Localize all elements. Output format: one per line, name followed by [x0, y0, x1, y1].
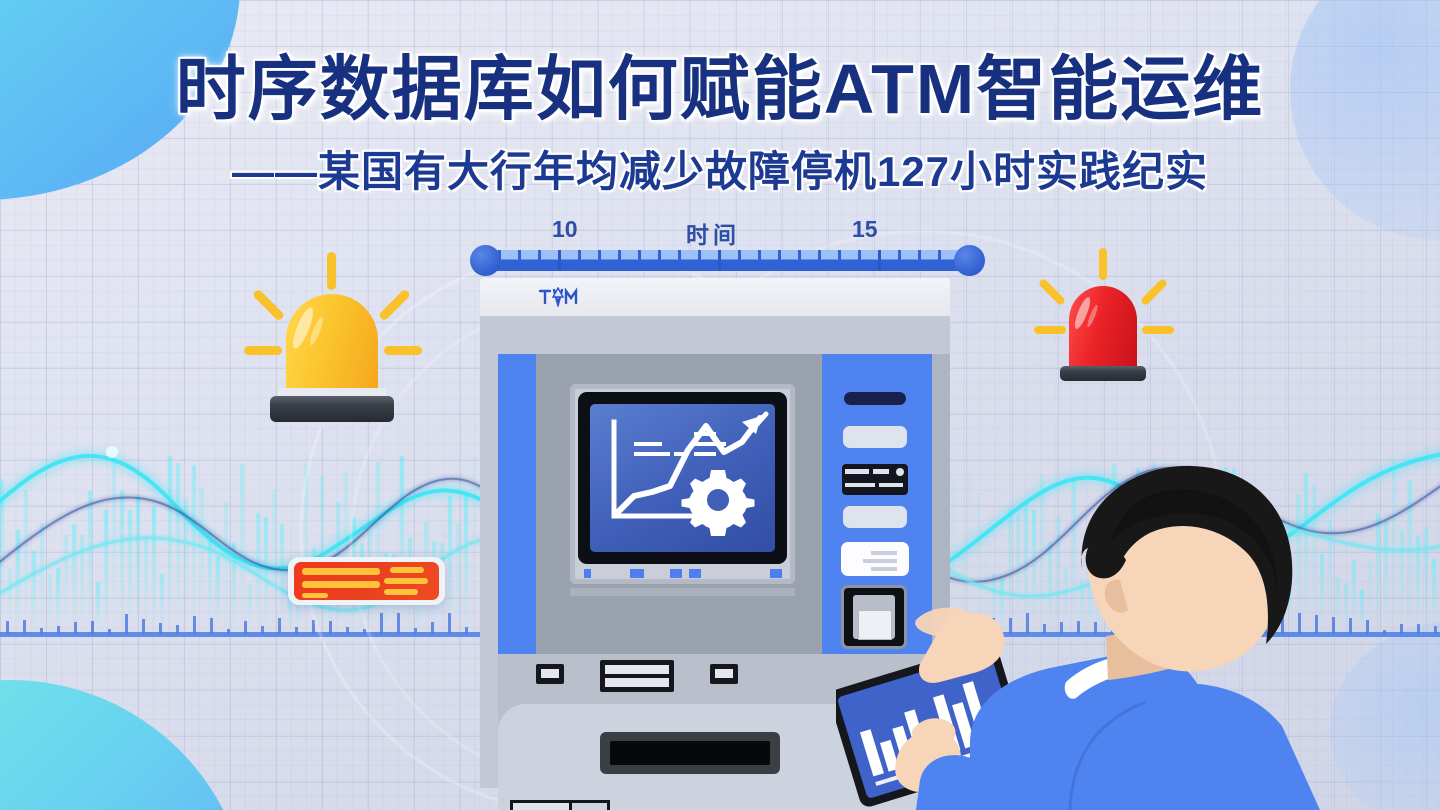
ruler-tick	[738, 250, 741, 263]
atm-screen-display[interactable]	[590, 404, 775, 552]
atm-brand-logo	[538, 287, 578, 312]
alert-text-line-4	[390, 567, 424, 573]
ruler-tick	[838, 250, 841, 263]
ruler-tick	[858, 250, 861, 263]
beacon-ray-upper-right	[378, 288, 411, 321]
ruler-tick	[558, 250, 561, 271]
ruler-label-right: 15	[852, 216, 878, 243]
ruler-tick	[718, 250, 721, 271]
operations-engineer	[820, 440, 1440, 810]
ruler-tick	[938, 250, 941, 263]
ruler-tick	[678, 250, 681, 263]
pointing-hand	[915, 608, 1004, 683]
timeline-ruler[interactable]: 10 时间 15	[470, 216, 985, 276]
ruler-tick	[698, 250, 701, 263]
ruler-tick	[758, 250, 761, 263]
cash-dispenser-opening	[610, 741, 770, 765]
page-title: 时序数据库如何赋能ATM智能运维	[0, 52, 1440, 128]
beacon-dome	[1069, 286, 1137, 368]
beacon-ray-left	[1034, 326, 1066, 334]
cash-dispenser-slot[interactable]	[600, 732, 780, 774]
beacon-ray-left	[244, 346, 282, 355]
ruler-tick	[538, 250, 541, 263]
baseline-tick	[125, 614, 128, 634]
red-alarm-beacon	[1038, 248, 1170, 394]
atm-screen-bezel	[570, 384, 795, 584]
ruler-tick	[778, 250, 781, 263]
card-reader-slot-dark[interactable]	[844, 392, 906, 405]
beacon-base	[270, 396, 394, 422]
ruler-tick	[618, 250, 621, 263]
screen-indicator-3	[670, 569, 682, 578]
alert-text-line-6	[384, 589, 418, 595]
ruler-tick	[878, 250, 881, 271]
ruler-tick	[818, 250, 821, 263]
atm-screen-indicator-row	[578, 566, 787, 580]
atm-screen-frame	[578, 392, 787, 564]
alert-text-line-3	[302, 593, 328, 598]
ruler-tick	[658, 250, 661, 263]
ruler-handle-right[interactable]	[954, 245, 985, 276]
ruler-label-left: 10	[552, 216, 578, 243]
ruler-labels: 10 时间 15	[470, 216, 985, 248]
amber-alarm-beacon	[248, 252, 418, 442]
fault-alert-card[interactable]	[288, 557, 445, 605]
beacon-ray-upper-left	[252, 288, 285, 321]
page-subtitle: ——某国有大行年均减少故障停机127小时实践纪实	[0, 138, 1440, 199]
beacon-ray-right	[1142, 326, 1174, 334]
screen-indicator-4	[689, 569, 701, 578]
beacon-ray-right	[384, 346, 422, 355]
alert-text-line-5	[384, 578, 428, 584]
atm-logo-icon	[538, 287, 578, 307]
beacon-ray-upper-right	[1140, 278, 1168, 306]
poster-canvas: 时序数据库如何赋能ATM智能运维 ——某国有大行年均减少故障停机127小时实践纪…	[0, 0, 1440, 810]
receipt-tray[interactable]	[510, 800, 610, 810]
alert-text-line-1	[302, 568, 380, 575]
ruler-tick	[518, 250, 521, 263]
beacon-base	[1060, 366, 1146, 381]
ruler-tick	[918, 250, 921, 263]
keypad-button-center[interactable]	[600, 660, 674, 692]
ruler-tick	[638, 250, 641, 263]
beacon-dome	[286, 294, 378, 394]
poster-title-block: 时序数据库如何赋能ATM智能运维 ——某国有大行年均减少故障停机127小时实践纪…	[0, 52, 1440, 199]
ruler-handle-left[interactable]	[470, 245, 501, 276]
ruler-tick	[798, 250, 801, 263]
atm-header-panel	[480, 278, 950, 316]
beacon-ray-top	[327, 252, 336, 290]
beacon-ray-top	[1099, 248, 1107, 280]
gear-icon	[682, 470, 755, 536]
screen-indicator-1	[584, 569, 591, 578]
ruler-tick	[578, 250, 581, 263]
ruler-track[interactable]	[478, 250, 978, 271]
ruler-label-center: 时间	[686, 216, 740, 250]
keypad-button-left[interactable]	[536, 664, 564, 684]
fault-alert-content	[294, 562, 439, 600]
atm-screen-base-strip	[570, 588, 795, 596]
beacon-ray-upper-left	[1038, 278, 1066, 306]
screen-indicator-5	[770, 569, 782, 578]
screen-indicator-2	[630, 569, 644, 578]
keypad-button-right[interactable]	[710, 664, 738, 684]
ruler-tick	[898, 250, 901, 263]
alert-text-line-2	[302, 581, 380, 588]
rising-line-chart-icon	[590, 404, 775, 552]
atm-left-blue-panel	[498, 354, 536, 654]
ruler-tick	[598, 250, 601, 263]
